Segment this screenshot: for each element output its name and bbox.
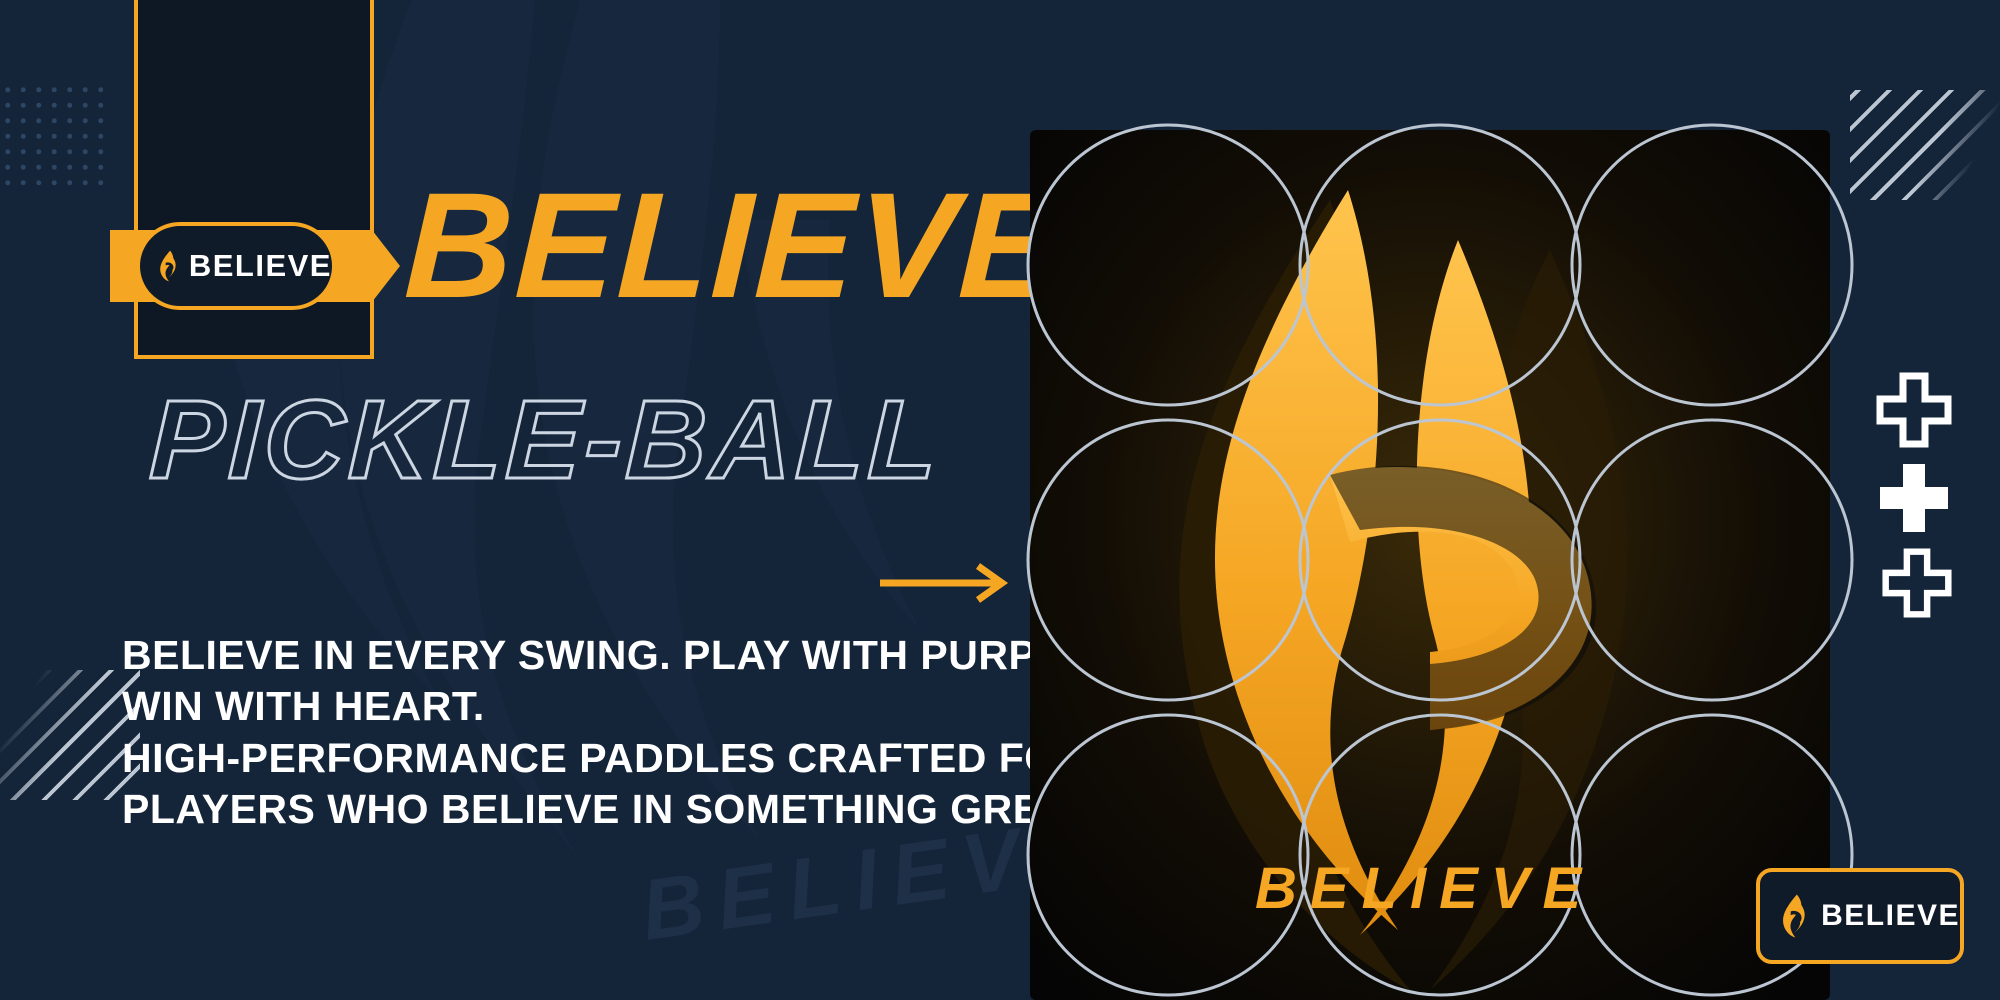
badge-pill: BELIEVE <box>136 222 336 310</box>
badge-believe-corner[interactable]: BELIEVE <box>1756 868 1964 964</box>
hero-body-line-4: PLAYERS WHO BELIEVE IN SOMETHING GREATER… <box>122 784 1072 835</box>
collage-wordmark: BELIEVE <box>1255 855 1594 922</box>
badge-believe-hero[interactable]: BELIEVE <box>110 222 400 312</box>
flame-b-logo-icon <box>158 238 179 294</box>
flame-b-logo-icon <box>1780 888 1809 944</box>
badge-label: BELIEVE <box>1821 899 1960 933</box>
diagonal-stripes-top-right <box>1850 90 2000 200</box>
hero-body-line-2: WIN WITH HEART. <box>122 681 1072 732</box>
hero-subheadline: PICKLE-BALL <box>148 390 942 491</box>
hero-headline: BELIEVE <box>403 178 1064 313</box>
dot-grid-pattern <box>0 82 112 192</box>
hero-body-line-1: BELIEVE IN EVERY SWING. PLAY WITH PURPOS… <box>122 630 1072 681</box>
cross-outline-icon <box>1876 372 1952 448</box>
cross-solid-icon <box>1876 460 1952 536</box>
arrow-right-icon[interactable] <box>880 560 1020 606</box>
diagonal-stripes-bottom-left <box>0 670 140 800</box>
hero-body-line-3: HIGH-PERFORMANCE PADDLES CRAFTED FOR <box>122 733 1072 784</box>
badge-label: BELIEVE <box>189 248 332 284</box>
hero-body-copy: BELIEVE IN EVERY SWING. PLAY WITH PURPOS… <box>122 630 1072 835</box>
cross-outline-icon-2 <box>1882 548 1952 618</box>
promo-banner: BELIEVE BELIEVE BELIEVE PICKLE-BALL BELI… <box>0 0 2000 1000</box>
